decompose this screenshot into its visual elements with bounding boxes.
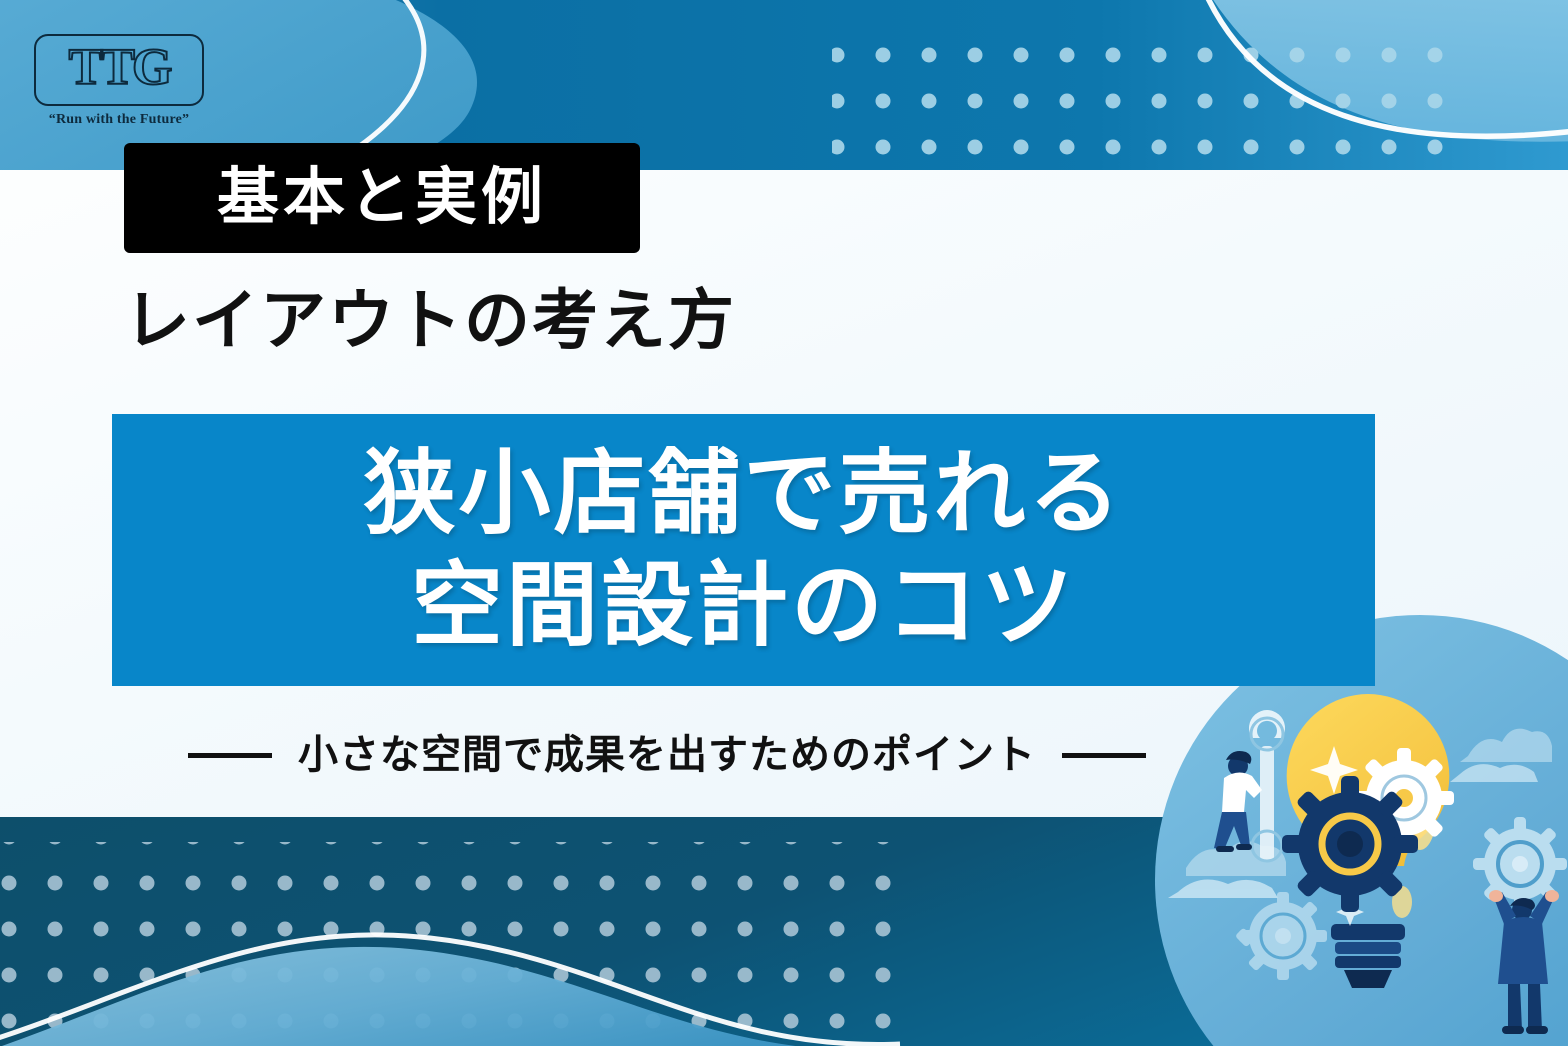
kicker-heading: レイアウトの考え方 — [124, 284, 736, 357]
poster-canvas: TTG “Run with the Future” 基本と実例 レイアウトの考え… — [0, 0, 1568, 1046]
lead-tagline-text: 小さな空間で成果を出すためのポイント — [298, 735, 1036, 775]
main-title-band: 狭小店舗で売れる 空間設計のコツ — [112, 414, 1375, 686]
lead-tagline: 小さな空間で成果を出すためのポイント — [112, 724, 1222, 786]
main-title-line-2: 空間設計のコツ — [411, 550, 1076, 662]
eyebrow-badge: 基本と実例 — [124, 143, 640, 253]
ttg-logo-icon: TTG — [34, 34, 204, 106]
logo-mark-text: TTG — [69, 42, 170, 98]
main-title-line-1: 狭小店舗で売れる — [363, 438, 1123, 550]
brand-tagline: “Run with the Future” — [34, 112, 204, 128]
rule-left-icon — [188, 753, 272, 758]
brand-logo[interactable]: TTG “Run with the Future” — [34, 34, 224, 128]
eyebrow-badge-label: 基本と実例 — [217, 167, 547, 229]
rule-right-icon — [1062, 753, 1146, 758]
